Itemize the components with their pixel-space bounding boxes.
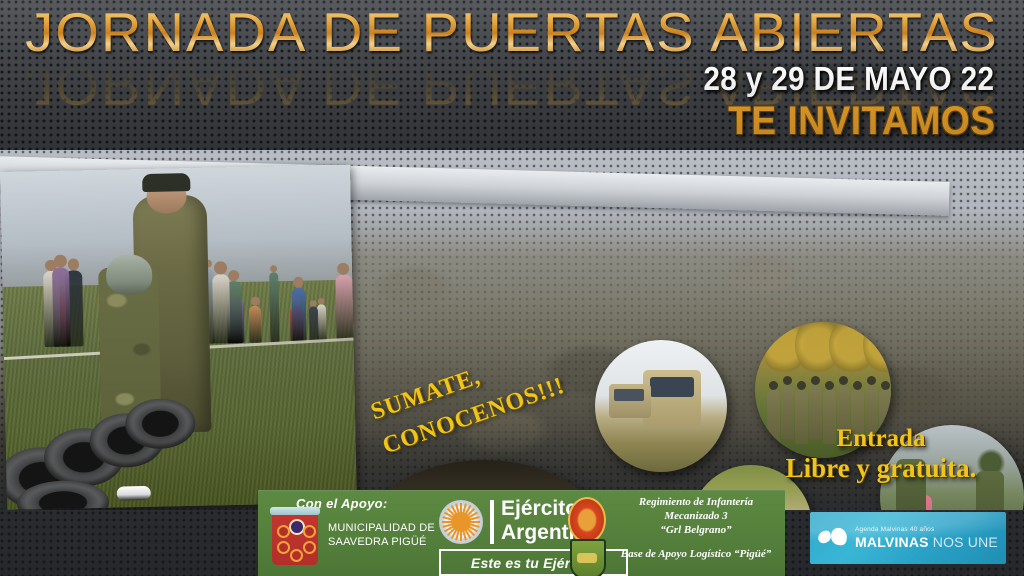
malvinas-text: Agenda Malvinas 40 años MALVINAS NOS UNE xyxy=(855,527,998,550)
malvinas-title-light: NOS UNE xyxy=(933,534,998,550)
event-dates: 28 y 29 DE MAYO 22 xyxy=(703,60,994,98)
crowd-head xyxy=(214,262,227,275)
logistics-base-crest-icon xyxy=(570,539,606,576)
crowd-figure xyxy=(212,274,231,343)
municipality-logo-cap xyxy=(270,507,320,515)
main-photo-soldier-and-child xyxy=(0,165,357,510)
regiment-crest-icon xyxy=(568,497,606,543)
municipality-logo-dot xyxy=(277,525,290,538)
crowd-head xyxy=(250,296,259,305)
crowd-figure xyxy=(335,274,353,340)
malvinas-title-bold: MALVINAS xyxy=(855,534,933,550)
malvinas-subtitle: Agenda Malvinas 40 años xyxy=(855,527,998,534)
crowd-figure xyxy=(292,287,307,342)
municipality-name: MUNICIPALIDAD DE SAAVEDRA PIGÜÉ xyxy=(328,521,435,549)
regiment-line-1: Regimiento de Infantería Mecanizado 3 xyxy=(610,495,782,523)
sponsors-banner: Con el Apoyo: MUNICIPALIDAD DE SAAVEDRA … xyxy=(258,490,785,576)
municipality-logo-dot xyxy=(290,549,303,562)
municipality-logo-dot xyxy=(303,525,316,538)
logistics-base-name: Base de Apoyo Logístico “Pigüé” xyxy=(610,547,782,561)
poster-title: JORNADA DE PUERTAS ABIERTAS xyxy=(0,5,1024,59)
photo-helmet xyxy=(106,253,153,294)
municipality-line-1: MUNICIPALIDAD DE xyxy=(328,521,435,535)
tire xyxy=(125,398,196,449)
crowd-figure xyxy=(52,268,71,347)
crowd-head xyxy=(337,262,349,274)
free-entry-notice: Entrada Libre y gratuita. xyxy=(756,424,1006,484)
army-sun-logo-icon xyxy=(439,500,483,544)
municipality-logo-dot xyxy=(303,541,316,554)
entry-line-1: Entrada xyxy=(756,424,1006,453)
truck-cab-front xyxy=(643,370,701,426)
army-divider xyxy=(490,500,494,544)
title-block: JORNADA DE PUERTAS ABIERTAS JORNADA DE P… xyxy=(0,5,1024,59)
logistics-line-1: Base de Apoyo Logístico “Pigüé” xyxy=(610,547,782,561)
crowd-head xyxy=(68,259,80,271)
regiment-name: Regimiento de Infantería Mecanizado 3 “G… xyxy=(610,495,782,537)
crowd-head xyxy=(294,277,304,287)
malvinas-islands-icon xyxy=(818,527,848,549)
crowd-head xyxy=(318,298,325,305)
poster-header: JORNADA DE PUERTAS ABIERTAS JORNADA DE P… xyxy=(0,0,1024,158)
municipality-line-2: SAAVEDRA PIGÜÉ xyxy=(328,535,435,549)
crowd-head xyxy=(310,300,317,307)
municipality-logo-dot xyxy=(277,541,290,554)
invitation-text: TE INVITAMOS xyxy=(728,99,995,144)
municipality-logo-icon xyxy=(272,513,318,565)
truck-cab-rear xyxy=(609,384,651,418)
entry-line-2: Libre y gratuita. xyxy=(756,453,1006,484)
crowd-figure xyxy=(249,305,262,342)
photo-tire-obstacle xyxy=(0,392,204,510)
crowd-head xyxy=(270,265,277,272)
crowd-head xyxy=(228,270,239,281)
poster: JORNADA DE PUERTAS ABIERTAS JORNADA DE P… xyxy=(0,0,1024,576)
crowd-figure xyxy=(308,307,318,342)
malvinas-title: MALVINAS NOS UNE xyxy=(855,535,998,549)
regiment-line-2: “Grl Belgrano” xyxy=(610,523,782,537)
circle-photo-military-trucks xyxy=(595,340,727,472)
malvinas-banner: Agenda Malvinas 40 años MALVINAS NOS UNE xyxy=(810,512,1006,564)
crowd-head xyxy=(54,255,67,268)
crowd-figure xyxy=(269,272,280,342)
